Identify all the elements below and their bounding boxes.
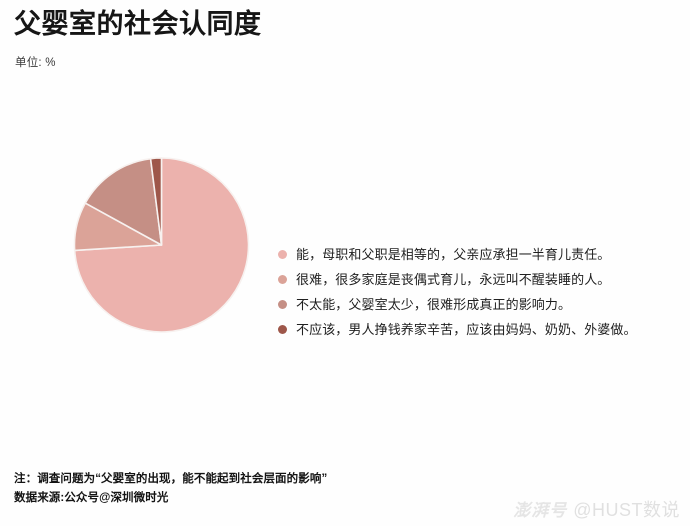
legend-swatch-icon-3 bbox=[278, 325, 287, 334]
legend-label-1: 很难，很多家庭是丧偶式育儿，永远叫不醒装睡的人。 bbox=[296, 270, 610, 289]
legend-item-1[interactable]: 很难，很多家庭是丧偶式育儿，永远叫不醒装睡的人。 bbox=[278, 270, 678, 295]
legend-label-2: 不太能，父婴室太少，很难形成真正的影响力。 bbox=[296, 295, 571, 314]
legend-swatch-icon-2 bbox=[278, 300, 287, 309]
pie-chart bbox=[74, 157, 249, 333]
footnotes: 注：调查问题为“父婴室的出现，能不能起到社会层面的影响” 数据来源:公众号@深圳… bbox=[14, 470, 574, 508]
unit-label: 单位: % bbox=[15, 54, 56, 70]
legend-swatch-icon-0 bbox=[278, 250, 287, 259]
legend-item-3[interactable]: 不应该，男人挣钱养家辛苦，应该由妈妈、奶奶、外婆做。 bbox=[278, 320, 678, 345]
legend-swatch-icon-1 bbox=[278, 275, 287, 284]
watermark-brand: 澎湃号 bbox=[513, 496, 567, 521]
chart-canvas: 父婴室的社会认同度 单位: % 能，母职和父职是相等的，父亲应承担一半育儿责任。… bbox=[0, 0, 690, 526]
pie-chart-svg bbox=[74, 157, 249, 333]
footnote-note: 注：调查问题为“父婴室的出现，能不能起到社会层面的影响” bbox=[14, 470, 574, 489]
legend-label-0: 能，母职和父职是相等的，父亲应承担一半育儿责任。 bbox=[296, 245, 610, 264]
watermark: 澎湃号 @HUST数说 bbox=[513, 496, 680, 522]
legend-label-3: 不应该，男人挣钱养家辛苦，应该由妈妈、奶奶、外婆做。 bbox=[296, 320, 637, 339]
watermark-handle: @HUST数说 bbox=[573, 496, 680, 522]
footnote-source: 数据来源:公众号@深圳微时光 bbox=[14, 489, 574, 508]
legend-item-0[interactable]: 能，母职和父职是相等的，父亲应承担一半育儿责任。 bbox=[278, 245, 678, 270]
pie-slice-group bbox=[74, 158, 248, 332]
page-title: 父婴室的社会认同度 bbox=[14, 10, 262, 40]
legend: 能，母职和父职是相等的，父亲应承担一半育儿责任。 很难，很多家庭是丧偶式育儿，永… bbox=[278, 245, 678, 345]
legend-item-2[interactable]: 不太能，父婴室太少，很难形成真正的影响力。 bbox=[278, 295, 678, 320]
